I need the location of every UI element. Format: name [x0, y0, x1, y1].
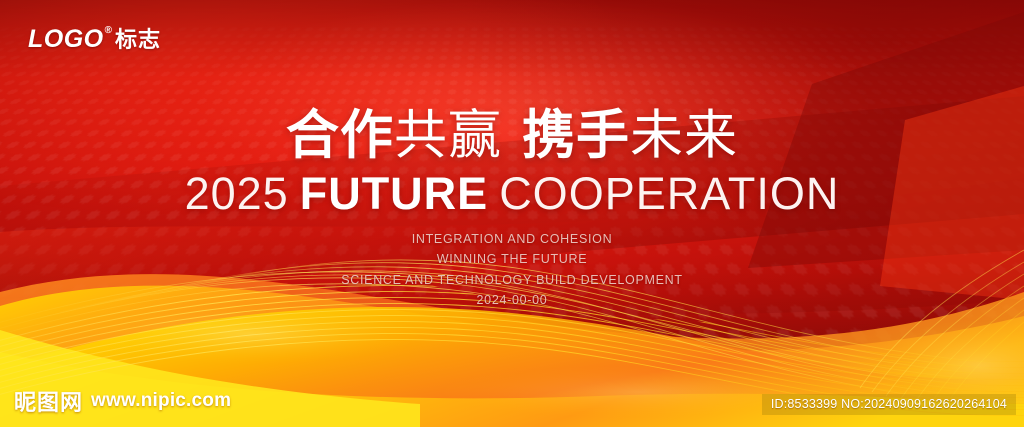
- main-title-english: 2025FUTURECOOPERATION: [0, 171, 1024, 217]
- title-en-year: 2025: [185, 168, 289, 219]
- site-watermark[interactable]: 昵图网 www.nipic.com: [14, 385, 231, 417]
- logo-text: LOGO: [28, 27, 104, 52]
- title-cn-segment-4: 未来: [630, 106, 738, 165]
- watermark-url-label: www.nipic.com: [91, 390, 231, 412]
- watermark-chinese-label: 昵图网: [14, 385, 83, 417]
- title-en-cooperation: COOPERATION: [499, 168, 839, 219]
- headline-block: 合作共赢携手未来 2025FUTURECOOPERATION INTEGRATI…: [0, 108, 1024, 310]
- title-en-future: FUTURE: [300, 168, 488, 219]
- subtitle-line: INTEGRATION AND COHESION: [0, 229, 1024, 249]
- asset-id-badge: ID:8533399 NO:20240909162620264104: [762, 394, 1016, 415]
- subtitle-line: 2024-00-00: [0, 290, 1024, 310]
- subtitle-block: INTEGRATION AND COHESION WINNING THE FUT…: [0, 229, 1024, 310]
- logo-chinese-text: 标志: [115, 29, 161, 51]
- title-cn-segment-2: 共赢: [394, 106, 502, 165]
- subtitle-line: WINNING THE FUTURE: [0, 249, 1024, 269]
- poster-canvas: LOGO ® 标志 合作共赢携手未来 2025FUTURECOOPERATION…: [0, 0, 1024, 427]
- title-cn-segment-1: 合作: [286, 106, 394, 165]
- subtitle-line: SCIENCE AND TECHNOLOGY BUILD DEVELOPMENT: [0, 270, 1024, 290]
- brand-logo[interactable]: LOGO ® 标志: [28, 27, 161, 52]
- title-cn-segment-3: 携手: [522, 106, 630, 165]
- registered-trademark-icon: ®: [105, 26, 112, 36]
- main-title-chinese: 合作共赢携手未来: [0, 108, 1024, 163]
